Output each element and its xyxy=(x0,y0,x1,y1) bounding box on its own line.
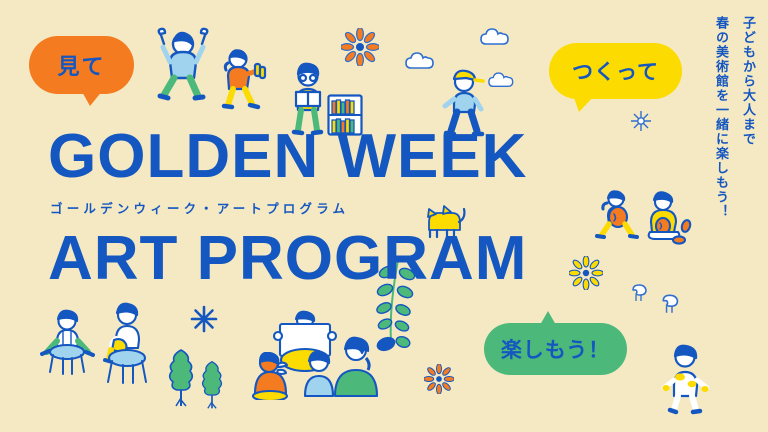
page-title-line-2: ART PROGRAM xyxy=(48,228,527,290)
bird-icon xyxy=(660,292,684,316)
speech-bubble-mite-label: 見て xyxy=(57,49,105,81)
flower-orange-icon xyxy=(424,364,454,394)
cloud-icon xyxy=(480,28,514,48)
page-title-line-1: GOLDEN WEEK xyxy=(48,126,527,188)
tree-icon xyxy=(168,348,194,408)
tree-icon xyxy=(201,360,223,410)
speech-bubble-tsukutte: つくって xyxy=(549,43,682,99)
person-seated-stool-icon xyxy=(36,308,98,380)
person-in-orange-costume-icon xyxy=(252,352,298,400)
bird-icon xyxy=(630,282,652,304)
speech-bubble-tanoshimou-label: 楽しもう！ xyxy=(501,334,610,364)
person-with-bottles-icon xyxy=(216,48,272,110)
cloud-icon xyxy=(405,52,439,72)
speech-bubble-mite: 見て xyxy=(29,36,134,94)
person-with-drum-icon xyxy=(638,190,696,246)
person-with-drum-icon xyxy=(594,188,644,240)
speech-bubble-tanoshimou: 楽しもう！ xyxy=(484,323,627,375)
person-seated-stool-icon xyxy=(96,300,158,386)
person-arms-up-icon xyxy=(152,24,214,102)
child-spotted-shirt-icon xyxy=(656,344,714,416)
star-burst-icon xyxy=(190,305,218,333)
subtitle-katakana: ゴールデンウィーク・アートプログラム xyxy=(50,198,349,217)
cloud-icon xyxy=(488,72,518,90)
vertical-lead-column-left: 春の美術館を一緒に楽しもう！ xyxy=(710,16,731,219)
snowflake-icon xyxy=(630,110,652,132)
person-seated-back-icon xyxy=(330,336,382,398)
flower-yellow-icon xyxy=(569,256,603,290)
vertical-lead-column-right: 子どもから大人まで xyxy=(737,16,758,219)
poster-canvas: GOLDEN WEEK ゴールデンウィーク・アートプログラム ART PROGR… xyxy=(0,0,768,432)
speech-bubble-tsukutte-label: つくって xyxy=(572,56,659,86)
vertical-lead-text: 子どもから大人まで 春の美術館を一緒に楽しもう！ xyxy=(710,16,758,219)
flower-orange-icon xyxy=(341,28,379,66)
